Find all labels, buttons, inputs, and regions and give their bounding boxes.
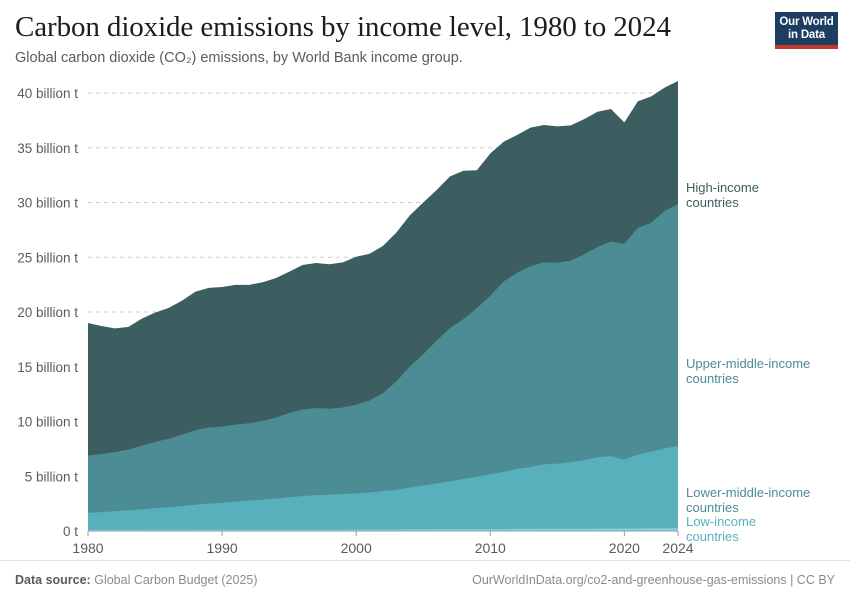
stacked-area-chart[interactable]: 0 t5 billion t10 billion t15 billion t20…	[0, 78, 850, 560]
logo-line-1: Our World	[777, 16, 836, 29]
legend-high-income[interactable]: High-incomecountries	[686, 180, 759, 210]
chart-footer: Data source: Global Carbon Budget (2025)…	[0, 560, 850, 600]
x-tick-label: 1980	[72, 540, 103, 556]
x-tick-label: 2010	[475, 540, 506, 556]
x-axis-tick-labels: 198019902000201020202024	[72, 531, 693, 556]
y-tick-label: 0 t	[63, 524, 78, 539]
chart-page: Carbon dioxide emissions by income level…	[0, 0, 850, 600]
y-tick-label: 40 billion t	[17, 86, 78, 101]
legend-low-income[interactable]: Low-incomecountries	[686, 514, 756, 544]
y-tick-label: 25 billion t	[17, 250, 78, 265]
data-source: Data source: Global Carbon Budget (2025)	[15, 573, 258, 587]
y-axis-tick-labels: 0 t5 billion t10 billion t15 billion t20…	[17, 86, 78, 539]
area-series-group[interactable]	[88, 81, 678, 531]
legend-lower-middle-income[interactable]: Lower-middle-incomecountries	[686, 485, 810, 515]
data-source-prefix: Data source:	[15, 573, 91, 587]
chart-header: Carbon dioxide emissions by income level…	[15, 10, 745, 68]
logo-line-2: in Data	[777, 29, 836, 42]
chart-canvas[interactable]: 0 t5 billion t10 billion t15 billion t20…	[0, 78, 850, 560]
x-tick-label: 2000	[341, 540, 372, 556]
y-tick-label: 10 billion t	[17, 415, 78, 430]
y-tick-label: 35 billion t	[17, 141, 78, 156]
page-title: Carbon dioxide emissions by income level…	[15, 10, 745, 44]
attribution-link[interactable]: OurWorldInData.org/co2-and-greenhouse-ga…	[472, 573, 835, 587]
y-tick-label: 30 billion t	[17, 196, 78, 211]
x-tick-label: 2020	[609, 540, 640, 556]
data-source-value: Global Carbon Budget (2025)	[94, 573, 257, 587]
series-labels-group: High-incomecountriesUpper-middle-incomec…	[686, 180, 810, 544]
y-tick-label: 5 billion t	[25, 469, 79, 484]
owid-logo[interactable]: Our World in Data	[775, 12, 838, 49]
y-tick-label: 20 billion t	[17, 305, 78, 320]
legend-upper-middle-income[interactable]: Upper-middle-incomecountries	[686, 356, 810, 386]
chart-subtitle: Global carbon dioxide (CO₂) emissions, b…	[15, 49, 745, 68]
x-tick-label: 1990	[207, 540, 238, 556]
y-tick-label: 15 billion t	[17, 360, 78, 375]
